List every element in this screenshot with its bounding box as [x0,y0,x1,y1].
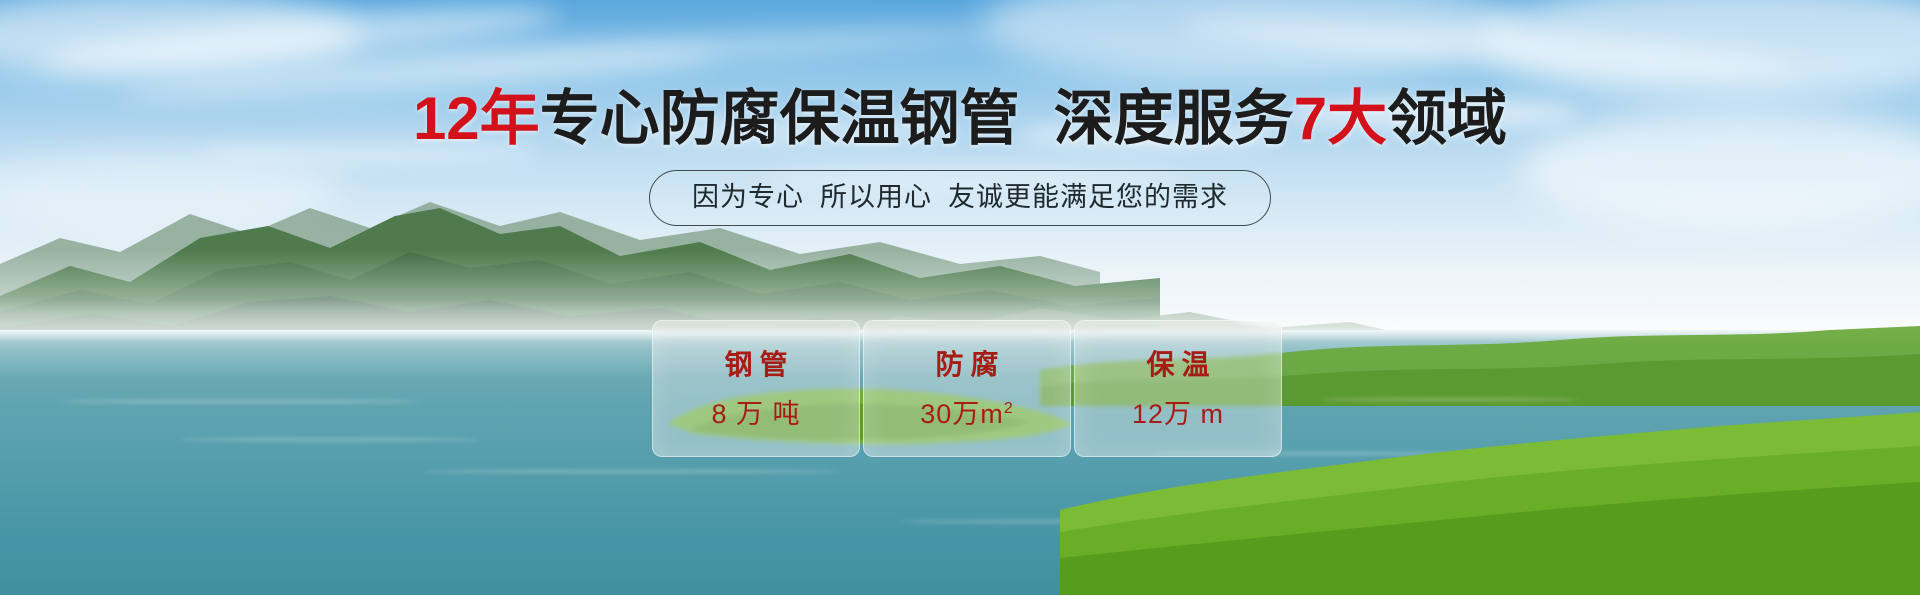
water-reflection [60,400,420,403]
headline-big: 大 [1327,85,1387,152]
stat-value-unit: 万 吨 [736,399,801,429]
banner-headline: 12年专心防腐保温钢管深度服务7大领域 [0,86,1920,152]
stat-card-value: 30万m2 [920,398,1013,430]
stat-value-number: 8 [711,399,727,429]
stat-card-insulation[interactable]: 保温 12万 m [1074,320,1282,457]
stat-card-label: 钢管 [717,348,794,382]
hero-banner: 12年专心防腐保温钢管深度服务7大领域 因为专心所以用心友诚更能满足您的需求 钢… [0,0,1920,595]
stat-value-number: 30 [920,399,952,429]
stat-card-group: 钢管 8 万 吨 防腐 30万m2 保温 12万 m [652,320,1282,457]
stat-card-anticorrosion[interactable]: 防腐 30万m2 [863,320,1071,457]
stat-card-value: 12万 m [1132,398,1224,430]
headline-years: 12年 [413,85,540,152]
subtitle-part-1: 因为专心 [692,182,804,212]
stat-card-label: 保温 [1139,348,1216,382]
stat-value-unit: 万 m [1164,399,1224,429]
stat-card-label: 防腐 [928,348,1005,382]
water-reflection [180,438,480,441]
headline-fields: 领域 [1387,85,1507,152]
water-reflection [420,470,840,473]
stat-value-superscript: 2 [1004,400,1014,417]
headline-main: 专心防腐保温钢管 [540,85,1020,152]
subtitle-pill: 因为专心所以用心友诚更能满足您的需求 [649,170,1271,226]
stat-value-unit: 万m [952,399,1004,429]
stat-value-number: 12 [1132,399,1164,429]
subtitle-part-3: 友诚更能满足您的需求 [948,182,1228,212]
stat-card-value: 8 万 吨 [711,398,800,430]
subtitle-part-2: 所以用心 [820,182,932,212]
headline-service: 深度服务 [1054,85,1294,152]
stat-card-steel-pipe[interactable]: 钢管 8 万 吨 [652,320,860,457]
headline-seven: 7 [1294,85,1327,152]
